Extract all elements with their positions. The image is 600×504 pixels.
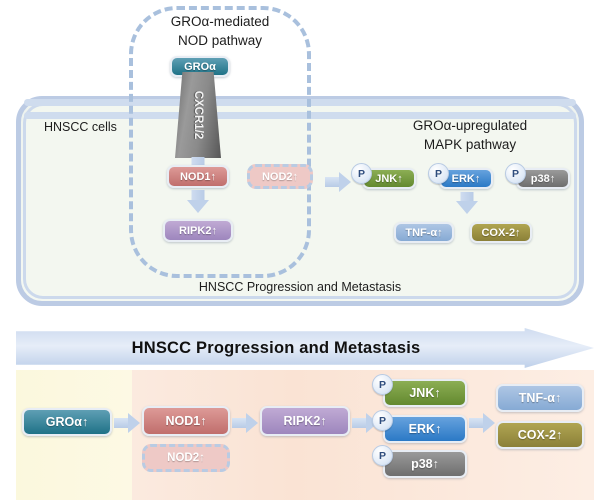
summary-node-erk[interactable]: ERK↑ — [383, 415, 467, 443]
summary-pathway-panel: HNSCC Progression and Metastasis GROα↑ N… — [0, 322, 600, 504]
summary-phospho-icon-jnk: P — [372, 374, 393, 395]
nod-pathway-title-line2: NOD pathway — [129, 31, 311, 50]
node-nod2[interactable]: NOD2↑ — [247, 164, 313, 189]
progression-banner-label: HNSCC Progression and Metastasis — [132, 339, 421, 358]
phospho-icon-p38: P — [505, 163, 526, 184]
summary-phospho-icon-p38: P — [372, 445, 393, 466]
summary-arrow-nod1-to-ripk2 — [232, 414, 258, 432]
summary-node-nod1[interactable]: NOD1↑ — [142, 406, 230, 436]
summary-arrow-mapk-to-effectors — [469, 414, 495, 432]
node-ripk2[interactable]: RIPK2↑ — [163, 219, 233, 242]
summary-node-jnk[interactable]: JNK↑ — [383, 379, 467, 407]
receptor-label: CXCR1/2 — [192, 91, 204, 140]
mapk-pathway-title-line1: GROα-upregulated — [348, 116, 592, 135]
phospho-icon-jnk: P — [351, 163, 372, 184]
summary-node-groa[interactable]: GROα↑ — [22, 408, 112, 436]
summary-node-p38[interactable]: p38↑ — [383, 450, 467, 478]
cell-footer-label: HNSCC Progression and Metastasis — [16, 280, 584, 294]
phospho-icon-erk: P — [428, 163, 449, 184]
summary-node-ripk2[interactable]: RIPK2↑ — [260, 406, 350, 436]
summary-node-tnf-alpha[interactable]: TNF-α↑ — [496, 384, 584, 412]
cell-label: HNSCC cells — [44, 120, 117, 134]
progression-banner: HNSCC Progression and Metastasis — [16, 328, 594, 368]
node-nod1[interactable]: NOD1↑ — [167, 165, 229, 188]
arrow-nod1-to-ripk2 — [186, 190, 210, 214]
summary-arrow-groa-to-nod1 — [114, 414, 140, 432]
node-cox2[interactable]: COX-2↑ — [470, 222, 532, 243]
mapk-pathway-title: GROα-upregulated MAPK pathway — [348, 116, 592, 154]
summary-node-cox2[interactable]: COX-2↑ — [496, 421, 584, 449]
node-tnf-alpha[interactable]: TNF-α↑ — [394, 222, 454, 243]
summary-phospho-icon-erk: P — [372, 410, 393, 431]
arrow-mapk-to-effectors — [455, 192, 479, 216]
nod-pathway-title: GROα-mediated NOD pathway — [129, 12, 311, 50]
summary-node-nod2[interactable]: NOD2↑ — [142, 444, 230, 472]
receptor-cxcr1-2[interactable]: CXCR1/2 — [175, 72, 221, 158]
nod-pathway-title-line1: GROα-mediated — [129, 12, 311, 31]
arrow-nod-to-mapk — [325, 172, 351, 192]
mapk-pathway-title-line2: MAPK pathway — [348, 135, 592, 154]
